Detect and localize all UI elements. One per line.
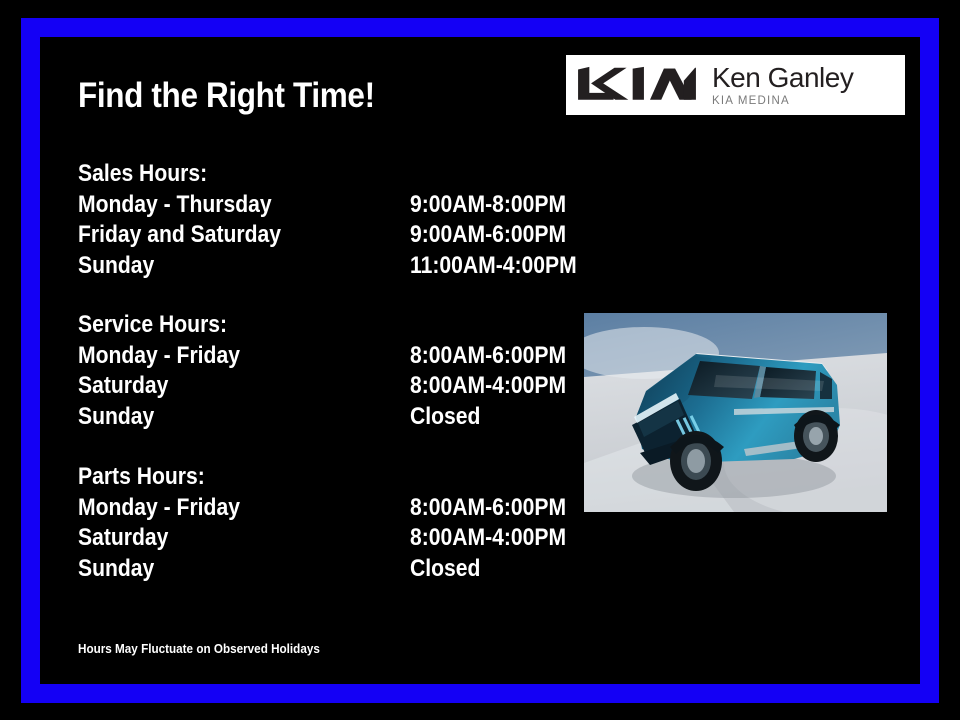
dealer-name: Ken Ganley bbox=[712, 63, 853, 92]
dealer-logo-banner: Ken Ganley KIA MEDINA bbox=[566, 55, 905, 115]
holiday-disclaimer: Hours May Fluctuate on Observed Holidays bbox=[78, 641, 320, 656]
hours-row-days: Sunday bbox=[78, 402, 154, 433]
parts-hours-block: Parts Hours: Monday - Friday 8:00AM-6:00… bbox=[78, 462, 222, 584]
hours-row-time: 8:00AM-6:00PM bbox=[410, 341, 566, 372]
hours-row: Monday - Thursday 9:00AM-8:00PM bbox=[78, 190, 225, 221]
hours-row-time: 9:00AM-8:00PM bbox=[410, 190, 566, 221]
sales-hours-heading: Sales Hours: bbox=[78, 159, 207, 190]
hours-row-days: Monday - Friday bbox=[78, 493, 240, 524]
kia-ev9-illustration bbox=[584, 313, 887, 512]
hours-row-time: 8:00AM-4:00PM bbox=[410, 523, 566, 554]
hours-row-time: 9:00AM-6:00PM bbox=[410, 220, 566, 251]
page-title: Find the Right Time! bbox=[78, 78, 375, 113]
hours-row: Sunday Closed bbox=[78, 402, 247, 433]
service-hours-block: Service Hours: Monday - Friday 8:00AM-6:… bbox=[78, 310, 247, 432]
parts-hours-heading: Parts Hours: bbox=[78, 462, 205, 493]
dealer-location: KIA MEDINA bbox=[712, 95, 853, 107]
hours-row: Sunday 11:00AM-4:00PM bbox=[78, 251, 225, 282]
kia-logo-icon bbox=[572, 66, 702, 103]
hours-row-days: Sunday bbox=[78, 554, 154, 585]
hours-row-days: Sunday bbox=[78, 251, 154, 282]
hours-row-time: Closed bbox=[410, 402, 480, 433]
hours-row-time: 8:00AM-6:00PM bbox=[410, 493, 566, 524]
hours-row-days: Friday and Saturday bbox=[78, 220, 281, 251]
dealership-hours-slide: Find the Right Time! Sales Hours: Monday… bbox=[0, 0, 960, 720]
hours-row: Monday - Friday 8:00AM-6:00PM bbox=[78, 493, 222, 524]
hours-row: Saturday 8:00AM-4:00PM bbox=[78, 371, 247, 402]
service-hours-heading: Service Hours: bbox=[78, 310, 227, 341]
dealer-name-group: Ken Ganley KIA MEDINA bbox=[712, 63, 853, 106]
hours-row-days: Monday - Friday bbox=[78, 341, 240, 372]
hours-row-time: 11:00AM-4:00PM bbox=[410, 251, 577, 282]
vehicle-photo bbox=[584, 313, 887, 512]
sales-hours-block: Sales Hours: Monday - Thursday 9:00AM-8:… bbox=[78, 159, 225, 281]
hours-row: Sunday Closed bbox=[78, 554, 222, 585]
hours-row-days: Saturday bbox=[78, 371, 168, 402]
hours-row-time: 8:00AM-4:00PM bbox=[410, 371, 566, 402]
hours-row: Friday and Saturday 9:00AM-6:00PM bbox=[78, 220, 225, 251]
hours-row-days: Monday - Thursday bbox=[78, 190, 272, 221]
hours-row: Saturday 8:00AM-4:00PM bbox=[78, 523, 222, 554]
hours-row: Monday - Friday 8:00AM-6:00PM bbox=[78, 341, 247, 372]
hours-row-days: Saturday bbox=[78, 523, 168, 554]
hours-row-time: Closed bbox=[410, 554, 480, 585]
